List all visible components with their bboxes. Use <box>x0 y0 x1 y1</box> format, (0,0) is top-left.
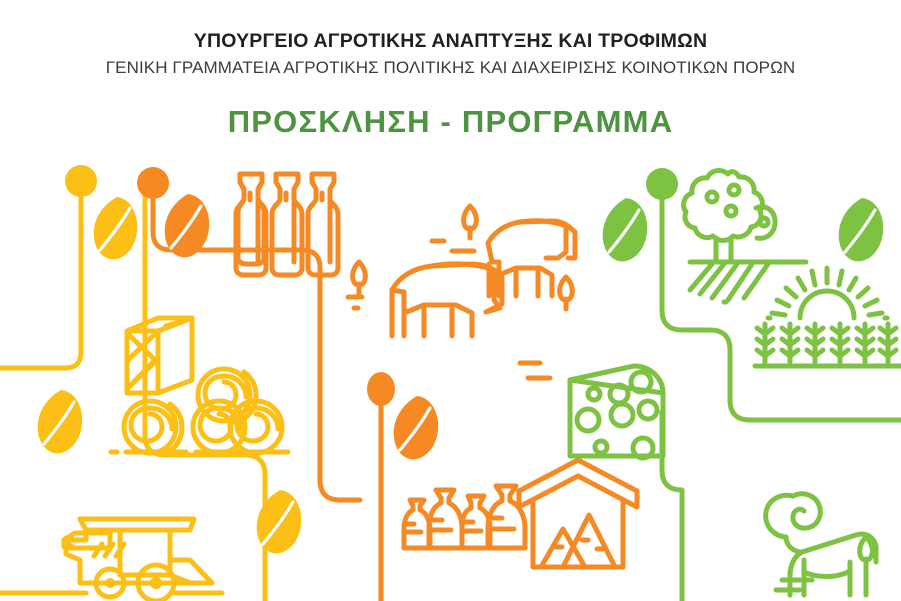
sunrise-over-crops-icon <box>755 268 901 366</box>
stem-dot-orange-left <box>137 167 169 199</box>
cow-grazing-large-icon <box>392 264 502 336</box>
poster-root: .yl{stroke:#FBBF16;fill:none;stroke-widt… <box>0 0 901 601</box>
leaf-yellow-mid-left <box>38 390 82 453</box>
cheese-wedge-icon <box>570 366 663 458</box>
poster-header: ΥΠΟΥΡΓΕΙΟ ΑΓΡΟΤΙΚΗΣ ΑΝΑΠΤΥΞΗΣ ΚΑΙ ΤΡΟΦΙΜ… <box>0 0 901 139</box>
barn-with-hay-icon <box>519 460 637 567</box>
leaf-green-far-right <box>839 198 883 261</box>
page-title: ΠΡΟΣΚΛΗΣΗ - ΠΡΟΓΡΑΜΜΑ <box>0 105 901 139</box>
leaf-yellow-upper-left <box>94 197 137 259</box>
combine-harvester-icon <box>0 519 222 601</box>
secretariat-subtitle: ΓΕΝΙΚΗ ΓΡΑΜΜΑΤΕΙΑ ΑΓΡΟΤΙΚΗΣ ΠΟΛΙΤΙΚΗΣ ΚΑ… <box>0 58 901 78</box>
ministry-title: ΥΠΟΥΡΓΕΙΟ ΑΓΡΟΤΙΚΗΣ ΑΝΑΠΤΥΞΗΣ ΚΑΙ ΤΡΟΦΙΜ… <box>0 30 901 52</box>
stem-dot-green-right <box>646 168 678 200</box>
grain-sacks-icon <box>404 486 525 548</box>
stem-dot-orange-center <box>367 372 395 406</box>
fruit-tree-field-icon <box>684 171 806 302</box>
leaf-green-left-of-tree <box>603 198 647 261</box>
stem-dot-yellow-left <box>65 165 97 197</box>
hay-bale-square-icon <box>127 318 192 393</box>
milk-bottles-icon <box>236 174 338 275</box>
leaf-orange-center <box>394 396 438 459</box>
grass-sprout-green-icon <box>860 537 873 569</box>
